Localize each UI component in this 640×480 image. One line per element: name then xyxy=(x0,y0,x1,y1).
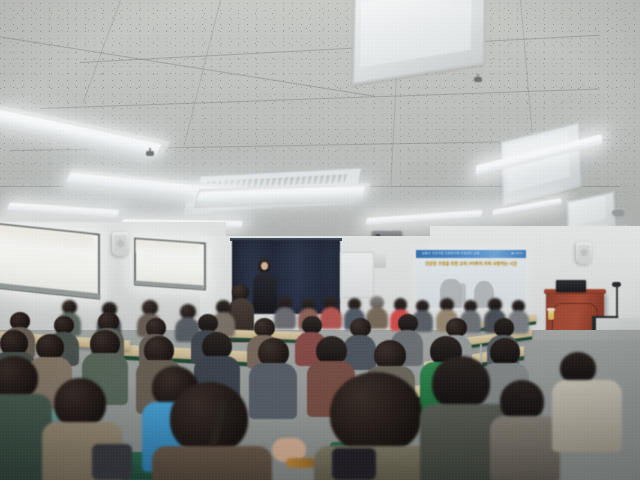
attendee-body xyxy=(152,446,272,480)
slide-logo: ◆ LOGO xyxy=(511,251,523,255)
slide-photo-arm xyxy=(458,283,466,303)
slide-title-text: 건강한 가정을 위한 교육 V어루저 가족 사랑하는 시간 xyxy=(424,261,518,267)
attendee-body xyxy=(552,380,622,452)
presenter-face xyxy=(261,262,268,270)
attendee-bracelet xyxy=(286,458,316,468)
attendee-head xyxy=(330,372,422,454)
shoulder-bag xyxy=(92,444,132,480)
drink-cup-lid xyxy=(547,308,555,311)
wall-speaker-right xyxy=(576,242,592,264)
photo-scene: 삼동구 건강가정 다문화가족 지원센터 교육 ◆ LOGO 건강한 가정을 위한… xyxy=(0,0,640,480)
drink-cup xyxy=(548,310,554,320)
attendee-head xyxy=(432,356,490,410)
whiteboard xyxy=(340,252,374,298)
attendee-head xyxy=(170,382,248,454)
attendee-body xyxy=(320,307,342,329)
attendee-body xyxy=(249,363,297,419)
attendee-body xyxy=(490,416,560,480)
slide-header-text: 삼동구 건강가정 다문화가족 지원센터 교육 xyxy=(422,251,479,255)
wall-speaker-front xyxy=(374,252,386,268)
shoulder-bag xyxy=(332,448,376,480)
presenter-body xyxy=(253,272,277,312)
attendee-body xyxy=(274,307,296,329)
attendee-head xyxy=(54,378,106,428)
smoke-detector-icon xyxy=(612,210,624,215)
laptop-icon[interactable] xyxy=(556,280,586,292)
wall-speaker-left xyxy=(112,232,129,256)
microphone-icon[interactable] xyxy=(612,282,621,287)
attendee-head xyxy=(490,338,520,366)
